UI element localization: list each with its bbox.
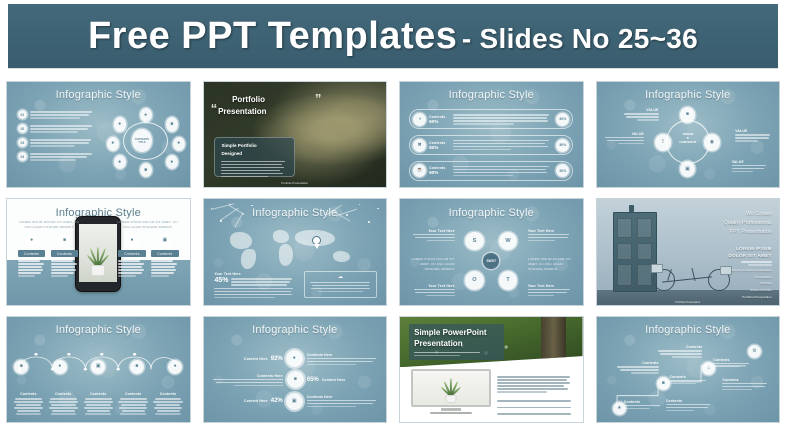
slide-title-1: Infographic Style xyxy=(7,89,190,101)
monitor-stand xyxy=(441,408,460,411)
swot-node-t[interactable]: T xyxy=(499,271,518,289)
step-text: Contents xyxy=(82,392,114,415)
slide-cell-4[interactable]: Infographic Style VISION & CONTENTS ■ ◉ … xyxy=(590,76,786,193)
kicker-right: LOREM IPSUM DOLOR SIT AMET, CU USU AGAM … xyxy=(117,220,179,230)
node-gear-icon[interactable]: ◉ xyxy=(704,134,720,150)
swot-center: SWOT xyxy=(483,253,499,269)
slide-thumbnail-5[interactable]: Infographic Style LOREM IPSUM DOLOR SIT … xyxy=(6,198,191,305)
link-item[interactable]: Portfolio xyxy=(732,280,772,287)
list-item-text xyxy=(30,138,95,147)
node-label: VALUE xyxy=(735,129,772,133)
slide-thumbnail-grid: Infographic Style 01 02 xyxy=(0,76,786,428)
slide-cell-2[interactable]: “ ” Portfolio Presentation Simple Portfo… xyxy=(197,76,394,193)
slide-thumbnail-3[interactable]: Infographic Style ◑ Contents 60% 60% xyxy=(399,81,584,188)
list-item[interactable]: 01 xyxy=(18,110,95,119)
bullet-item xyxy=(497,407,571,409)
slide-thumbnail-8[interactable]: We Create Quality Professional PPT Prese… xyxy=(596,198,781,305)
tree-trunk xyxy=(541,317,567,368)
step-text-row: Contents Contents Contents Contents xyxy=(12,392,184,415)
swot-text-w: Your Text Here xyxy=(528,229,572,242)
card[interactable]: ▣ Contents xyxy=(151,234,178,277)
subtitle-line1: LOREM IPSUM xyxy=(728,246,771,253)
pill-row[interactable]: ☕ Contents 50% 50% xyxy=(409,161,573,181)
radial-hub-diagram: CONTENTS TITLE ● ■ ● ● ■ ● ● ● xyxy=(107,109,184,174)
item-percent: 42% xyxy=(271,398,283,404)
subtitle-line2: DOLOR SIT AMET xyxy=(728,253,771,260)
slide-thumbnail-2[interactable]: “ ” Portfolio Presentation Simple Portfo… xyxy=(203,81,388,188)
slide8-title: We Create Quality Professional PPT Prese… xyxy=(724,210,772,238)
spoke-lightbulb-icon[interactable]: ● xyxy=(166,155,178,169)
spoke-pencil-icon[interactable]: ● xyxy=(114,117,126,131)
pill-row[interactable]: ◑ Contents 60% 60% xyxy=(409,109,573,129)
item-label: Content Here xyxy=(322,378,346,382)
spoke-monitor-icon[interactable]: ■ xyxy=(166,117,178,131)
monitor-icon: ■ xyxy=(287,371,304,388)
thumbs-up-icon: ● xyxy=(286,350,303,367)
step-briefcase-icon[interactable]: ■ xyxy=(130,360,144,374)
node-text-right: VALUE xyxy=(735,129,772,142)
slide-cell-8[interactable]: We Create Quality Professional PPT Prese… xyxy=(590,193,786,310)
step-thumbs-up-icon[interactable]: ● xyxy=(168,360,182,374)
slide-title-10: Infographic Style xyxy=(204,324,387,336)
slide-title-7: Infographic Style xyxy=(400,207,583,219)
box-heading-line1: Simple Portfolio xyxy=(221,143,287,150)
swot-heading: Your Text Here xyxy=(411,284,455,288)
rear-basket xyxy=(720,266,732,275)
monitor-screen xyxy=(411,369,491,406)
step-text: Contents xyxy=(152,392,184,415)
slide-footer-8: Portfolio Presentation xyxy=(597,301,780,304)
slide11-bullets xyxy=(497,400,574,415)
callout-box: ☁ xyxy=(304,271,377,298)
portfolio-title-line2: Presentation xyxy=(218,106,266,118)
spoke-chart-icon[interactable]: ■ xyxy=(140,163,152,177)
list-item-text xyxy=(30,152,95,161)
list-number-badge: 01 xyxy=(18,110,27,119)
card-button[interactable]: Contents xyxy=(118,250,145,257)
slide-cell-9[interactable]: Infographic Style ■ ● ▣ ■ ● xyxy=(0,311,197,428)
chart-icon: ▣ xyxy=(286,393,303,410)
stat-label: Your Text Here xyxy=(214,272,294,276)
row-progress-ring: 60% xyxy=(556,113,569,126)
row-progress-ring: 50% xyxy=(556,164,569,177)
slide11-title: Simple PowerPoint Presentation xyxy=(409,324,504,360)
link-item[interactable]: Simple Portfolio Presentation xyxy=(732,267,772,274)
step-text: Contents xyxy=(12,392,44,415)
portfolio-text-box: Simple Portfolio Designed xyxy=(214,137,294,177)
slide-title-12: Infographic Style xyxy=(597,324,780,336)
title-line2: Presentation xyxy=(414,339,499,350)
slide-cell-12[interactable]: Infographic Style ★ ■ ⌂ ⚙ Contents Conte… xyxy=(590,311,786,428)
slide-thumbnail-4[interactable]: Infographic Style VISION & CONTENTS ■ ◉ … xyxy=(596,81,781,188)
slide-title-9: Infographic Style xyxy=(7,324,190,336)
card-button[interactable]: Contents xyxy=(18,250,45,257)
list-item-text xyxy=(30,124,95,133)
row-body-text xyxy=(453,140,557,151)
row-body-text xyxy=(453,114,557,125)
step-document-icon[interactable]: ▣ xyxy=(91,360,105,374)
list-item[interactable]: 04 xyxy=(18,152,95,161)
title-line1: We Create xyxy=(724,210,772,219)
card[interactable]: ■ Contents xyxy=(51,234,78,277)
step-text: Contents xyxy=(47,392,79,415)
cup-icon: ☕ xyxy=(413,164,426,177)
monitor-base xyxy=(430,412,472,414)
spoke-gear-icon[interactable]: ● xyxy=(107,137,119,151)
item-label: Content Here xyxy=(244,357,268,361)
world-map xyxy=(227,229,362,271)
swot-side-text-right: LOREM IPSUM DOLOR SIT AMET, CU USU AGAM … xyxy=(528,257,575,272)
step-monitor-icon[interactable]: ■ xyxy=(14,360,28,374)
step-card-2: Contents xyxy=(670,375,710,385)
list-number-badge: 03 xyxy=(18,138,27,147)
chat-icon: ● xyxy=(126,234,139,247)
step-note-1: Contents xyxy=(615,361,659,374)
pie-chart-icon: ◑ xyxy=(413,113,426,126)
slide8-links: Simple Portfolio Presentation Presentati… xyxy=(732,267,772,301)
desktop-monitor-mockup xyxy=(411,369,491,413)
swot-node-w[interactable]: W xyxy=(499,232,518,250)
slide-thumbnail-12[interactable]: Infographic Style ★ ■ ⌂ ⚙ Contents Conte… xyxy=(596,316,781,423)
item-heading: Contents Here xyxy=(307,395,386,399)
swot-heading: Your Text Here xyxy=(411,229,455,233)
front-basket xyxy=(651,264,663,273)
slide8-subtitle: LOREM IPSUM DOLOR SIT AMET xyxy=(728,246,771,266)
kicker-left: LOREM IPSUM DOLOR SIT AMET, CU USU AGAM … xyxy=(18,220,80,230)
slide-thumbnail-9[interactable]: Infographic Style ■ ● ▣ ■ ● xyxy=(6,316,191,423)
title-line1: Simple PowerPoint xyxy=(414,328,499,339)
slide-cell-7[interactable]: Infographic Style SWOT S W O T Your Text… xyxy=(393,193,590,310)
node-label: VALUE xyxy=(604,132,644,136)
slide-cell-6[interactable]: Infographic Style xyxy=(197,193,394,310)
pill-row[interactable]: ✖ Contents 80% 80% xyxy=(409,135,573,155)
swot-text-o: Your Text Here xyxy=(411,284,455,297)
door xyxy=(613,212,657,292)
bicycle xyxy=(651,251,731,291)
title-line3: PPT Presentation xyxy=(724,228,772,237)
item-percent: 92% xyxy=(271,356,283,362)
portfolio-title-line1: Portfolio xyxy=(232,94,266,106)
list-number-badge: 04 xyxy=(18,152,27,161)
user-icon: ● xyxy=(25,234,38,247)
link-item[interactable]: Simple Portfolio xyxy=(732,287,772,294)
chain-item[interactable]: Content Here 92% ● Contents Here xyxy=(204,350,387,367)
page-header-banner: Free PPT Templates - Slides No 25~36 xyxy=(8,4,778,68)
node-image-icon[interactable]: ▣ xyxy=(680,161,696,177)
banner-text: Free PPT Templates - Slides No 25~36 xyxy=(88,15,698,58)
step-card-1: Contents xyxy=(624,400,664,410)
banner-main-title: Free PPT Templates xyxy=(88,15,457,57)
item-heading: Contents Here xyxy=(307,353,386,357)
swot-node-o[interactable]: O xyxy=(465,271,484,289)
node-text-bottom: VALUE xyxy=(732,160,769,173)
swot-side-text-left: LOREM IPSUM DOLOR SIT AMET, CU USU AGAM … xyxy=(407,257,454,272)
plant-pot xyxy=(91,265,105,276)
circle-node-diagram: VISION & CONTENTS ■ ◉ ▣ ! xyxy=(659,109,717,174)
spoke-cloud-icon[interactable]: ● xyxy=(114,155,126,169)
smartphone-mockup xyxy=(75,216,121,292)
slide-thumbnail-11[interactable]: Simple PowerPoint Presentation xyxy=(399,316,584,423)
card-button[interactable]: Contents xyxy=(151,250,178,257)
slide-thumbnail-1[interactable]: Infographic Style 01 02 xyxy=(6,81,191,188)
swot-node-s[interactable]: S xyxy=(465,232,484,250)
card-button[interactable]: Contents xyxy=(51,250,78,257)
stat-block: Your Text Here 45% xyxy=(214,272,294,298)
hub-center: CONTENTS TITLE xyxy=(132,129,152,153)
row-percent: 80% xyxy=(429,145,453,150)
card[interactable]: ● Contents xyxy=(118,234,145,277)
step-icon-row: ■ ● ▣ ■ ● xyxy=(14,360,182,374)
node-label: VALUE xyxy=(622,108,659,112)
bullet-item xyxy=(497,413,571,415)
box-heading-line2: Designed xyxy=(221,151,287,158)
monitor-icon: ■ xyxy=(58,234,71,247)
step-note-3: Contents xyxy=(722,378,769,391)
chain-item[interactable]: Content Here 42% ▣ Contents Here xyxy=(204,393,387,410)
swot-text-s: Your Text Here xyxy=(411,229,455,242)
stat-value: 45% xyxy=(214,277,228,286)
step-note-2: Contents xyxy=(655,345,702,358)
box-body-text xyxy=(221,161,287,178)
slide-thumbnail-7[interactable]: Infographic Style SWOT S W O T Your Text… xyxy=(399,198,584,305)
list-item-text xyxy=(30,110,95,119)
slide-cell-10[interactable]: Infographic Style Content Here 92% ● Con… xyxy=(197,311,394,428)
page-root: Free PPT Templates - Slides No 25~36 Inf… xyxy=(0,0,786,430)
spoke-chat-icon[interactable]: ● xyxy=(140,108,152,122)
lamp-icon xyxy=(629,205,634,212)
step-lock-icon[interactable]: ● xyxy=(53,360,67,374)
slide-cell-5[interactable]: Infographic Style LOREM IPSUM DOLOR SIT … xyxy=(0,193,197,310)
slide-thumbnail-10[interactable]: Infographic Style Content Here 92% ● Con… xyxy=(203,316,388,423)
row-percent: 50% xyxy=(429,170,453,175)
item-label: Content Here xyxy=(244,399,268,403)
list-number-badge: 02 xyxy=(18,124,27,133)
list-item[interactable]: 02 xyxy=(18,124,95,133)
swot-heading: Your Text Here xyxy=(528,229,572,233)
node-label: VALUE xyxy=(732,160,769,164)
item-percent: 65% xyxy=(307,377,319,383)
slide11-body-text xyxy=(497,376,574,393)
node-text-top: VALUE xyxy=(622,108,659,121)
title-line2: Quality Professional xyxy=(724,219,772,228)
chain-item[interactable]: Contents Here ■ 65% Content Here xyxy=(204,371,387,388)
quote-close-icon: ” xyxy=(315,95,322,103)
slide-thumbnail-6[interactable]: Infographic Style xyxy=(203,198,388,305)
slide-cell-11[interactable]: Simple PowerPoint Presentation xyxy=(393,311,590,428)
bullet-item xyxy=(497,400,571,402)
slide-title-2: Portfolio Presentation xyxy=(218,94,266,119)
banner-subtitle: - Slides No 25~36 xyxy=(462,23,698,54)
swot-text-t: Your Text Here xyxy=(528,284,572,297)
item-heading: Contents Here xyxy=(204,374,283,378)
row-percent: 60% xyxy=(429,119,453,124)
step-card-3: Contents xyxy=(713,358,753,368)
spoke-globe-icon[interactable]: ● xyxy=(173,137,185,151)
center-label: VISION & CONTENTS xyxy=(674,132,702,145)
slide-title-3: Infographic Style xyxy=(400,89,583,101)
map-pin-icon[interactable] xyxy=(312,236,321,248)
swot-diagram: SWOT S W O T xyxy=(460,231,522,292)
step-gear-icon[interactable]: ⚙ xyxy=(748,345,761,358)
phone-screen xyxy=(79,224,117,282)
cloud-icon: ☁ xyxy=(308,275,373,280)
step-note-4: Contents xyxy=(666,399,713,412)
step-text: Contents xyxy=(117,392,149,415)
folder-icon: ▣ xyxy=(158,234,171,247)
slide-cell-1[interactable]: Infographic Style 01 02 xyxy=(0,76,197,193)
row-progress-ring: 80% xyxy=(556,139,569,152)
puzzle-icon: ✖ xyxy=(413,139,426,152)
node-text-left: VALUE xyxy=(604,132,644,145)
link-item[interactable]: Presentation xyxy=(732,274,772,281)
slide-title-4: Infographic Style xyxy=(597,89,780,101)
card[interactable]: ● Contents xyxy=(18,234,45,277)
slide-cell-3[interactable]: Infographic Style ◑ Contents 60% 60% xyxy=(393,76,590,193)
slide-footer-2: Portfolio Presentation xyxy=(204,181,387,185)
swot-heading: Your Text Here xyxy=(528,284,572,288)
row-body-text xyxy=(453,166,557,177)
list-item[interactable]: 03 xyxy=(18,138,95,147)
quote-open-icon: “ xyxy=(211,105,218,113)
node-exclamation-icon[interactable]: ! xyxy=(655,134,671,150)
